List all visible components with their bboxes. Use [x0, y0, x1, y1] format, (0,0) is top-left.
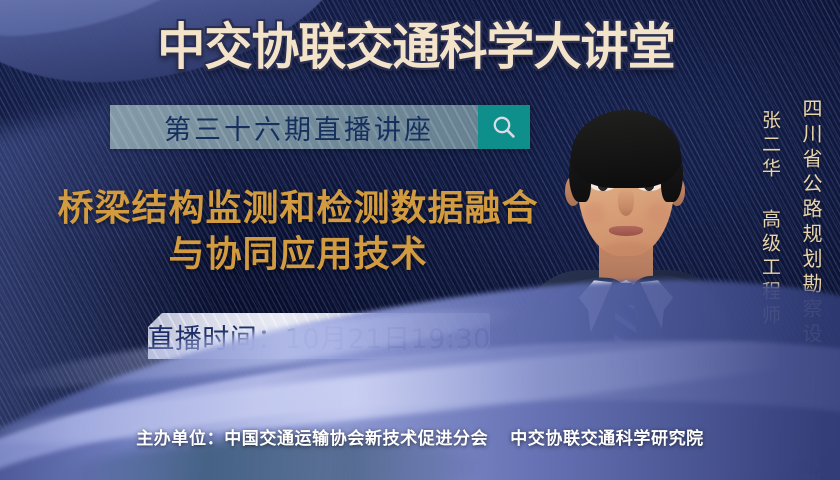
- page-title: 中交协联交通科学大讲堂: [140, 16, 693, 78]
- live-time-text: 直播时间：10月21日19:30: [147, 317, 491, 356]
- nose: [618, 188, 634, 216]
- portrait-bottom-fade: [515, 370, 735, 426]
- live-lecture-poster: 中交协联交通科学大讲堂 第三十六期直播讲座 桥梁结构监测和检测数据融合 与协同应…: [0, 0, 840, 480]
- cheek-right: [647, 202, 669, 224]
- search-button[interactable]: [478, 105, 530, 149]
- speaker-organization: 四川省公路规划勘察设计研究院有限公司: [797, 98, 826, 480]
- live-time-banner: 直播时间：10月21日19:30: [148, 313, 490, 359]
- speaker-name-title: 张二华 高级工程师: [757, 110, 784, 329]
- lecture-title-line-2: 与协同应用技术: [28, 232, 568, 278]
- cheek-left: [583, 202, 605, 224]
- hair: [571, 110, 681, 188]
- episode-label: 第三十六期直播讲座: [110, 108, 478, 147]
- mouth: [609, 226, 643, 236]
- episode-subtitle-bar: 第三十六期直播讲座: [110, 105, 530, 149]
- chin-shadow: [601, 242, 651, 258]
- footer-organizers: 主办单位：中国交通运输协会新技术促进分会中交协联交通科学研究院: [0, 424, 840, 449]
- footer-organizer-2: 中交协联交通科学研究院: [510, 429, 704, 449]
- lecture-title: 桥梁结构监测和检测数据融合 与协同应用技术: [28, 186, 568, 278]
- search-icon: [491, 114, 517, 140]
- footer-prefix: 主办单位：: [136, 429, 224, 449]
- speaker-portrait: [527, 84, 723, 414]
- lecture-title-line-1: 桥梁结构监测和检测数据融合: [57, 188, 538, 229]
- footer-organizer-1: 中国交通运输协会新技术促进分会: [224, 429, 488, 449]
